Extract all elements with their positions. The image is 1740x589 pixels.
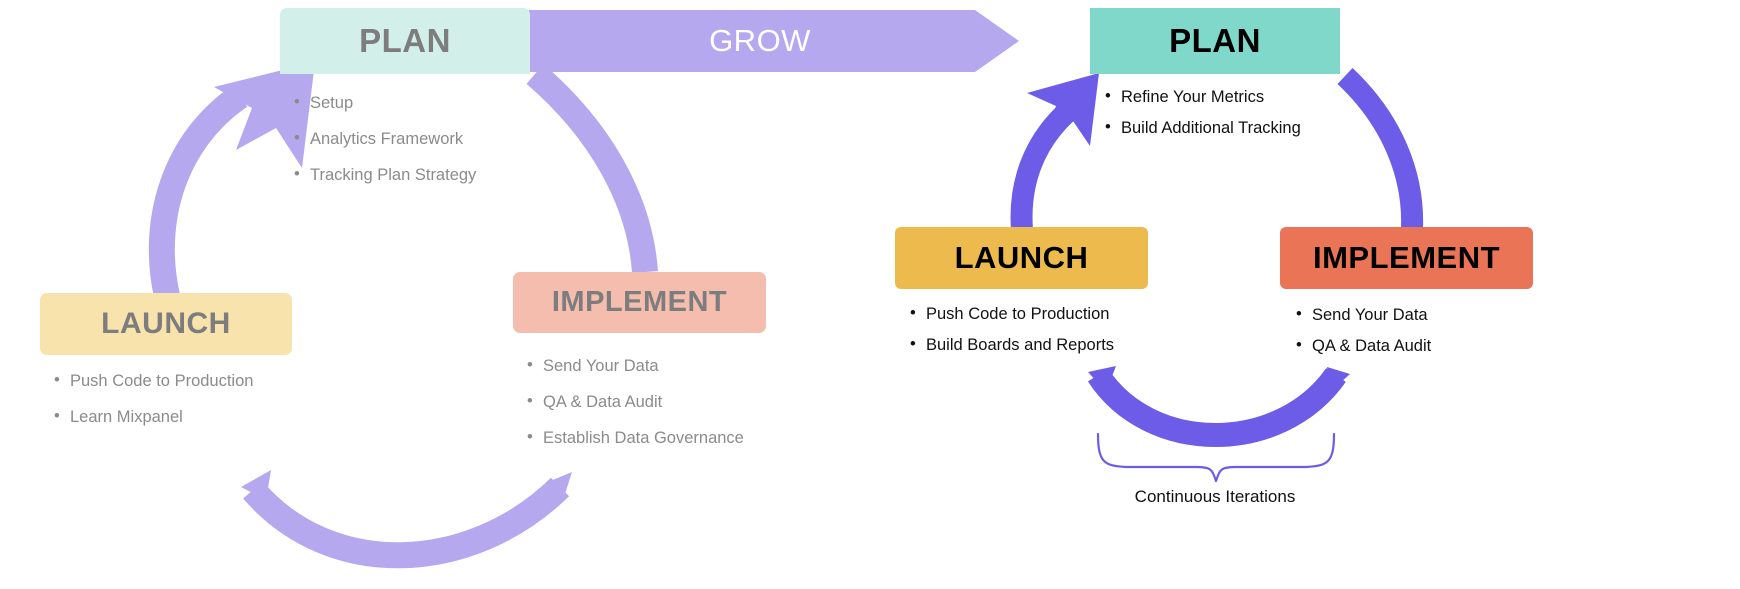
right-cycle-bottom-arc	[1088, 366, 1350, 435]
left-cycle-bottom-arc	[241, 470, 572, 555]
left-implement-box[interactable]: IMPLEMENT	[513, 272, 766, 333]
list-item: •Tracking Plan Strategy	[294, 166, 594, 185]
right-implement-bullets: •Send Your Data •QA & Data Audit	[1296, 306, 1616, 368]
list-item: •Analytics Framework	[294, 130, 594, 149]
right-plan-bullets: •Refine Your Metrics •Build Additional T…	[1105, 88, 1425, 150]
left-implement-title: IMPLEMENT	[552, 286, 727, 319]
right-cycle-launch-to-plan-arrow	[1022, 73, 1099, 230]
diagram-canvas: PLAN •Setup •Analytics Framework •Tracki…	[0, 0, 1740, 589]
right-implement-title: IMPLEMENT	[1313, 240, 1500, 276]
left-launch-bullets: •Push Code to Production •Learn Mixpanel	[54, 372, 354, 444]
grow-banner-label: GROW	[529, 10, 991, 72]
list-item: •Push Code to Production	[910, 305, 1230, 324]
list-item: •QA & Data Audit	[527, 393, 847, 412]
right-launch-bullets: •Push Code to Production •Build Boards a…	[910, 305, 1230, 367]
list-item: •Push Code to Production	[54, 372, 354, 391]
right-launch-title: LAUNCH	[955, 240, 1089, 276]
bullet-icon: •	[294, 94, 310, 111]
list-item: •Send Your Data	[1296, 306, 1616, 325]
list-item: •Refine Your Metrics	[1105, 88, 1425, 107]
left-plan-title: PLAN	[359, 22, 451, 60]
bullet-icon: •	[1105, 119, 1121, 136]
bullet-icon: •	[54, 372, 70, 389]
bullet-icon: •	[294, 166, 310, 183]
list-item: •QA & Data Audit	[1296, 337, 1616, 356]
bullet-icon: •	[294, 130, 310, 147]
list-item: •Setup	[294, 94, 594, 113]
bullet-icon: •	[54, 408, 70, 425]
bullet-icon: •	[910, 336, 926, 353]
list-item: •Establish Data Governance	[527, 429, 847, 448]
continuous-iterations-brace	[1098, 434, 1334, 481]
list-item: •Send Your Data	[527, 357, 847, 376]
bullet-icon: •	[1105, 88, 1121, 105]
bullet-icon: •	[1296, 337, 1312, 354]
right-plan-title: PLAN	[1169, 22, 1261, 60]
bullet-icon: •	[1296, 306, 1312, 323]
bullet-icon: •	[527, 357, 543, 374]
right-plan-box[interactable]: PLAN	[1090, 8, 1340, 74]
left-cycle-launch-to-plan-arrow	[162, 62, 315, 296]
continuous-iterations-label: Continuous Iterations	[1055, 487, 1375, 507]
bullet-icon: •	[910, 305, 926, 322]
right-launch-box[interactable]: LAUNCH	[895, 227, 1148, 289]
list-item: •Learn Mixpanel	[54, 408, 354, 427]
list-item: •Build Additional Tracking	[1105, 119, 1425, 138]
left-launch-title: LAUNCH	[101, 307, 231, 341]
left-plan-box[interactable]: PLAN	[280, 8, 530, 74]
left-launch-box[interactable]: LAUNCH	[40, 293, 292, 355]
bullet-icon: •	[527, 393, 543, 410]
bullet-icon: •	[527, 429, 543, 446]
left-implement-bullets: •Send Your Data •QA & Data Audit •Establ…	[527, 357, 847, 465]
list-item: •Build Boards and Reports	[910, 336, 1230, 355]
right-implement-box[interactable]: IMPLEMENT	[1280, 227, 1533, 289]
left-plan-bullets: •Setup •Analytics Framework •Tracking Pl…	[294, 94, 594, 202]
